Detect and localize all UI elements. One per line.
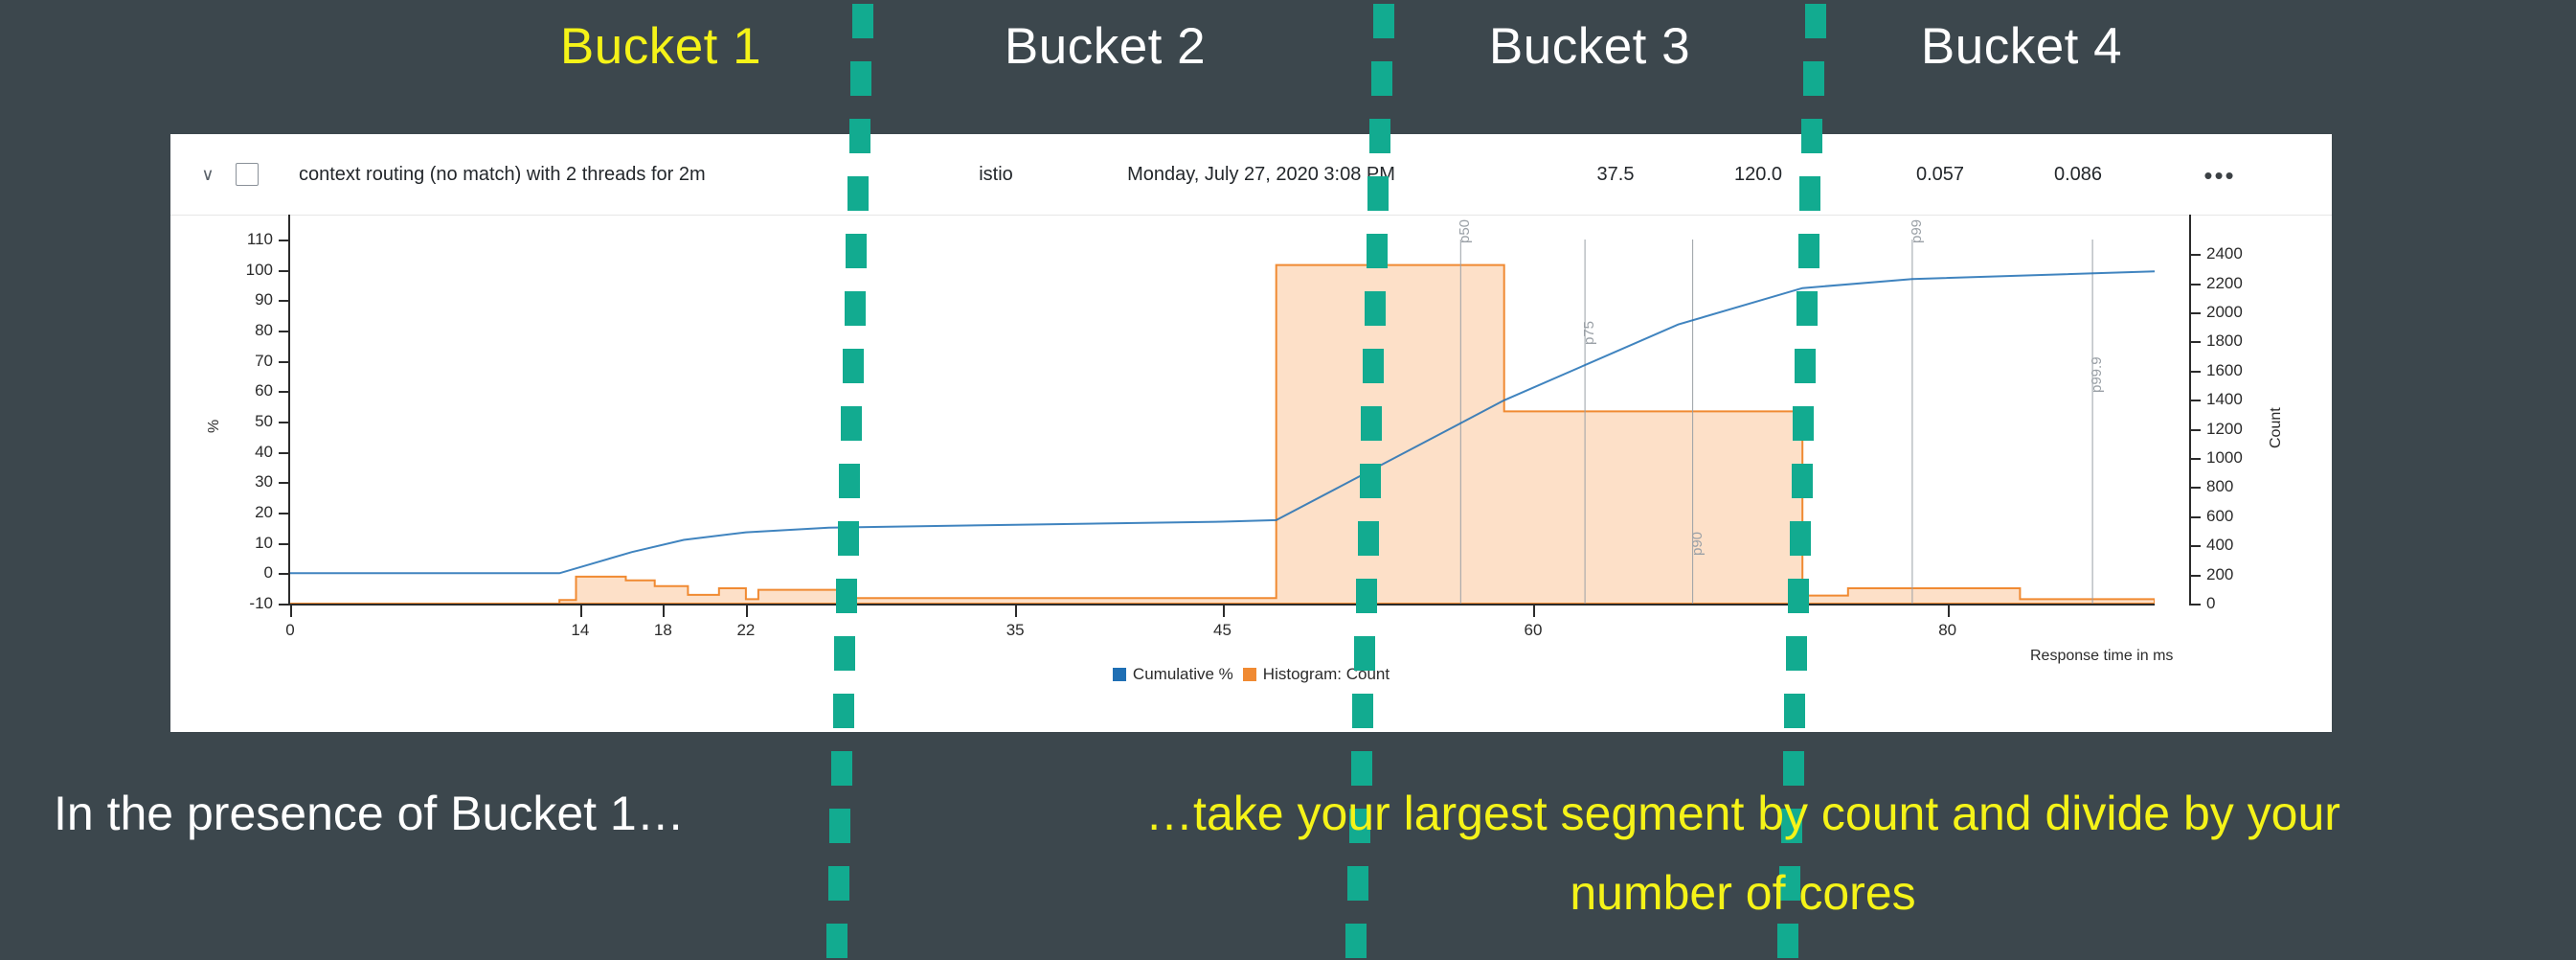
caption-2: …take your largest segment by count and … — [1145, 786, 2340, 841]
divider-dash — [852, 4, 873, 38]
percentile-label-p75: p75 — [1581, 321, 1597, 345]
y-axis-line-left — [288, 215, 290, 606]
divider-dash — [843, 349, 864, 383]
plot-svg — [290, 240, 2155, 604]
divider-dash — [1796, 291, 1818, 326]
y-tick-label-20: 20 — [255, 503, 273, 522]
benchmark-result-card: ∨ context routing (no match) with 2 thre… — [170, 134, 2332, 732]
y-tick-90 — [279, 300, 288, 302]
y2-tick-label-1600: 1600 — [2206, 361, 2243, 380]
divider-dash — [836, 579, 857, 613]
divider-dash — [841, 406, 862, 441]
y2-tick-0 — [2191, 604, 2201, 606]
y2-tick-800 — [2191, 487, 2201, 489]
bucket-label-3: Bucket 3 — [1489, 17, 1690, 76]
legend-item-0[interactable]: Cumulative % — [1113, 665, 1233, 684]
y-tick-label-110: 110 — [247, 230, 273, 249]
divider-dash — [1805, 4, 1826, 38]
divider-dash — [1352, 694, 1373, 728]
legend-swatch-icon — [1243, 668, 1256, 681]
y2-tick-label-400: 400 — [2206, 536, 2233, 555]
y2-tick-label-1200: 1200 — [2206, 420, 2243, 439]
histogram-series — [290, 265, 2155, 604]
divider-dash — [1793, 406, 1814, 441]
y-tick-label-0: 0 — [264, 563, 273, 583]
divider-dash — [1803, 61, 1824, 96]
row-title: context routing (no match) with 2 thread… — [299, 164, 706, 186]
caption-1: In the presence of Bucket 1… — [54, 786, 685, 841]
divider-dash — [1371, 61, 1392, 96]
y-tick-110 — [279, 240, 288, 241]
divider-dash — [1784, 694, 1805, 728]
y2-tick-1000 — [2191, 458, 2201, 460]
y2-tick-label-0: 0 — [2206, 594, 2215, 613]
x-tick-80 — [1948, 606, 1950, 617]
divider-dash — [839, 464, 860, 498]
divider-dash — [834, 636, 855, 671]
divider-dash — [1363, 349, 1384, 383]
x-tick-label-60: 60 — [1525, 621, 1543, 640]
divider-dash — [845, 291, 866, 326]
y2-tick-600 — [2191, 516, 2201, 518]
bucket-label-2: Bucket 2 — [1005, 17, 1206, 76]
percentile-label-p99: p99 — [1909, 219, 1925, 243]
percentile-label-p99.9: p99.9 — [2089, 356, 2105, 393]
y2-tick-2200 — [2191, 284, 2201, 286]
x-tick-0 — [290, 606, 292, 617]
divider-dash — [1347, 866, 1368, 901]
divider-dash — [829, 809, 850, 843]
divider-dash — [1792, 464, 1813, 498]
y2-tick-2400 — [2191, 254, 2201, 256]
legend-swatch-icon — [1113, 668, 1126, 681]
bucket-divider-3 — [0, 0, 21, 960]
y-tick-label-10: 10 — [255, 534, 273, 553]
percentile-label-p50: p50 — [1457, 219, 1473, 243]
x-tick-60 — [1533, 606, 1535, 617]
divider-dash — [1358, 521, 1379, 556]
plot-area — [290, 240, 2155, 604]
x-axis-title: Response time in ms — [2030, 648, 2173, 665]
y2-tick-label-1800: 1800 — [2206, 331, 2243, 351]
divider-dash — [1795, 349, 1816, 383]
y-axis-title: % — [206, 420, 223, 433]
legend-label: Cumulative % — [1133, 665, 1233, 684]
divider-dash — [1373, 4, 1394, 38]
y2-tick-200 — [2191, 575, 2201, 577]
divider-dash — [1345, 924, 1367, 958]
y2-tick-2000 — [2191, 312, 2201, 314]
x-tick-label-35: 35 — [1006, 621, 1025, 640]
divider-dash — [849, 119, 870, 153]
y2-tick-1600 — [2191, 371, 2201, 373]
y2-tick-1200 — [2191, 429, 2201, 431]
y2-tick-label-1400: 1400 — [2206, 390, 2243, 409]
cumulative-series — [290, 271, 2155, 573]
bucket-label-4: Bucket 4 — [1921, 17, 2122, 76]
x-tick-label-22: 22 — [736, 621, 755, 640]
divider-dash — [1801, 119, 1822, 153]
y-tick-label-100: 100 — [246, 261, 273, 280]
divider-dash — [1369, 119, 1390, 153]
divider-dash — [1786, 636, 1807, 671]
divider-dash — [826, 924, 847, 958]
divider-dash — [1356, 579, 1377, 613]
y-tick-label-90: 90 — [255, 290, 273, 309]
y2-tick-label-800: 800 — [2206, 477, 2233, 496]
latency-histogram-chart: 014182235456080-100102030405060708090100… — [170, 215, 2332, 732]
expand-caret-icon[interactable]: ∨ — [192, 166, 224, 183]
y2-tick-label-2400: 2400 — [2206, 244, 2243, 263]
divider-dash — [846, 234, 867, 268]
row-cell-4: 0.057 — [1916, 164, 1964, 186]
y-tick-label-30: 30 — [255, 472, 273, 491]
divider-dash — [1798, 234, 1819, 268]
y2-tick-label-1000: 1000 — [2206, 448, 2243, 468]
x-tick-label-0: 0 — [285, 621, 294, 640]
row-checkbox[interactable] — [236, 163, 259, 186]
y-tick-label-80: 80 — [255, 321, 273, 340]
divider-dash — [1777, 924, 1798, 958]
y-tick-80 — [279, 331, 288, 332]
x-tick-label-45: 45 — [1213, 621, 1232, 640]
y2-tick-1400 — [2191, 400, 2201, 401]
x-tick-label-18: 18 — [654, 621, 672, 640]
divider-dash — [831, 751, 852, 786]
percentile-label-p90: p90 — [1689, 532, 1706, 556]
x-tick-14 — [580, 606, 582, 617]
x-tick-label-14: 14 — [571, 621, 589, 640]
y-tick-100 — [279, 270, 288, 272]
divider-dash — [1367, 234, 1388, 268]
divider-dash — [1788, 579, 1809, 613]
row-cell-3: 120.0 — [1734, 164, 1782, 186]
slide-canvas: Bucket 1Bucket 2Bucket 3Bucket 4 ∨ conte… — [0, 0, 2576, 960]
chart-legend: Cumulative %Histogram: Count — [170, 665, 2332, 684]
divider-dash — [847, 176, 869, 211]
row-cell-1: Monday, July 27, 2020 3:08 PM — [1127, 164, 1395, 186]
y-tick-70 — [279, 361, 288, 363]
divider-dash — [1351, 751, 1372, 786]
divider-dash — [1367, 176, 1389, 211]
y2-tick-1800 — [2191, 341, 2201, 343]
divider-dash — [1365, 291, 1386, 326]
divider-dash — [1360, 464, 1381, 498]
y2-tick-label-200: 200 — [2206, 565, 2233, 584]
x-tick-label-80: 80 — [1938, 621, 1956, 640]
row-cell-0: istio — [979, 164, 1013, 186]
y-tick-label--10: -10 — [249, 594, 273, 613]
y-tick-label-60: 60 — [255, 381, 273, 400]
divider-dash — [1354, 636, 1375, 671]
divider-dash — [1361, 406, 1382, 441]
y-tick-30 — [279, 482, 288, 484]
row-cell-2: 37.5 — [1597, 164, 1635, 186]
x-tick-35 — [1015, 606, 1017, 617]
y-tick-20 — [279, 513, 288, 514]
row-overflow-menu-icon[interactable]: ••• — [2203, 161, 2235, 191]
y-tick-40 — [279, 452, 288, 454]
y-tick--10 — [279, 604, 288, 606]
divider-dash — [1799, 176, 1820, 211]
y2-tick-400 — [2191, 545, 2201, 547]
divider-dash — [838, 521, 859, 556]
y2-tick-label-600: 600 — [2206, 507, 2233, 526]
y2-tick-label-2200: 2200 — [2206, 274, 2243, 293]
divider-dash — [1790, 521, 1811, 556]
caption-3: number of cores — [1570, 865, 1915, 921]
divider-dash — [1783, 751, 1804, 786]
y-tick-10 — [279, 543, 288, 545]
y-tick-label-70: 70 — [255, 352, 273, 371]
x-tick-22 — [746, 606, 748, 617]
x-tick-45 — [1223, 606, 1225, 617]
y-tick-label-40: 40 — [255, 443, 273, 462]
y-tick-50 — [279, 422, 288, 423]
y-tick-60 — [279, 391, 288, 393]
y2-tick-label-2000: 2000 — [2206, 303, 2243, 322]
y-tick-label-50: 50 — [255, 412, 273, 431]
divider-dash — [850, 61, 871, 96]
y2-axis-title: Count — [2268, 407, 2285, 448]
y-tick-0 — [279, 573, 288, 575]
row-cell-5: 0.086 — [2054, 164, 2102, 186]
divider-dash — [828, 866, 849, 901]
x-tick-18 — [663, 606, 665, 617]
divider-dash — [833, 694, 854, 728]
bucket-label-1: Bucket 1 — [560, 17, 761, 76]
